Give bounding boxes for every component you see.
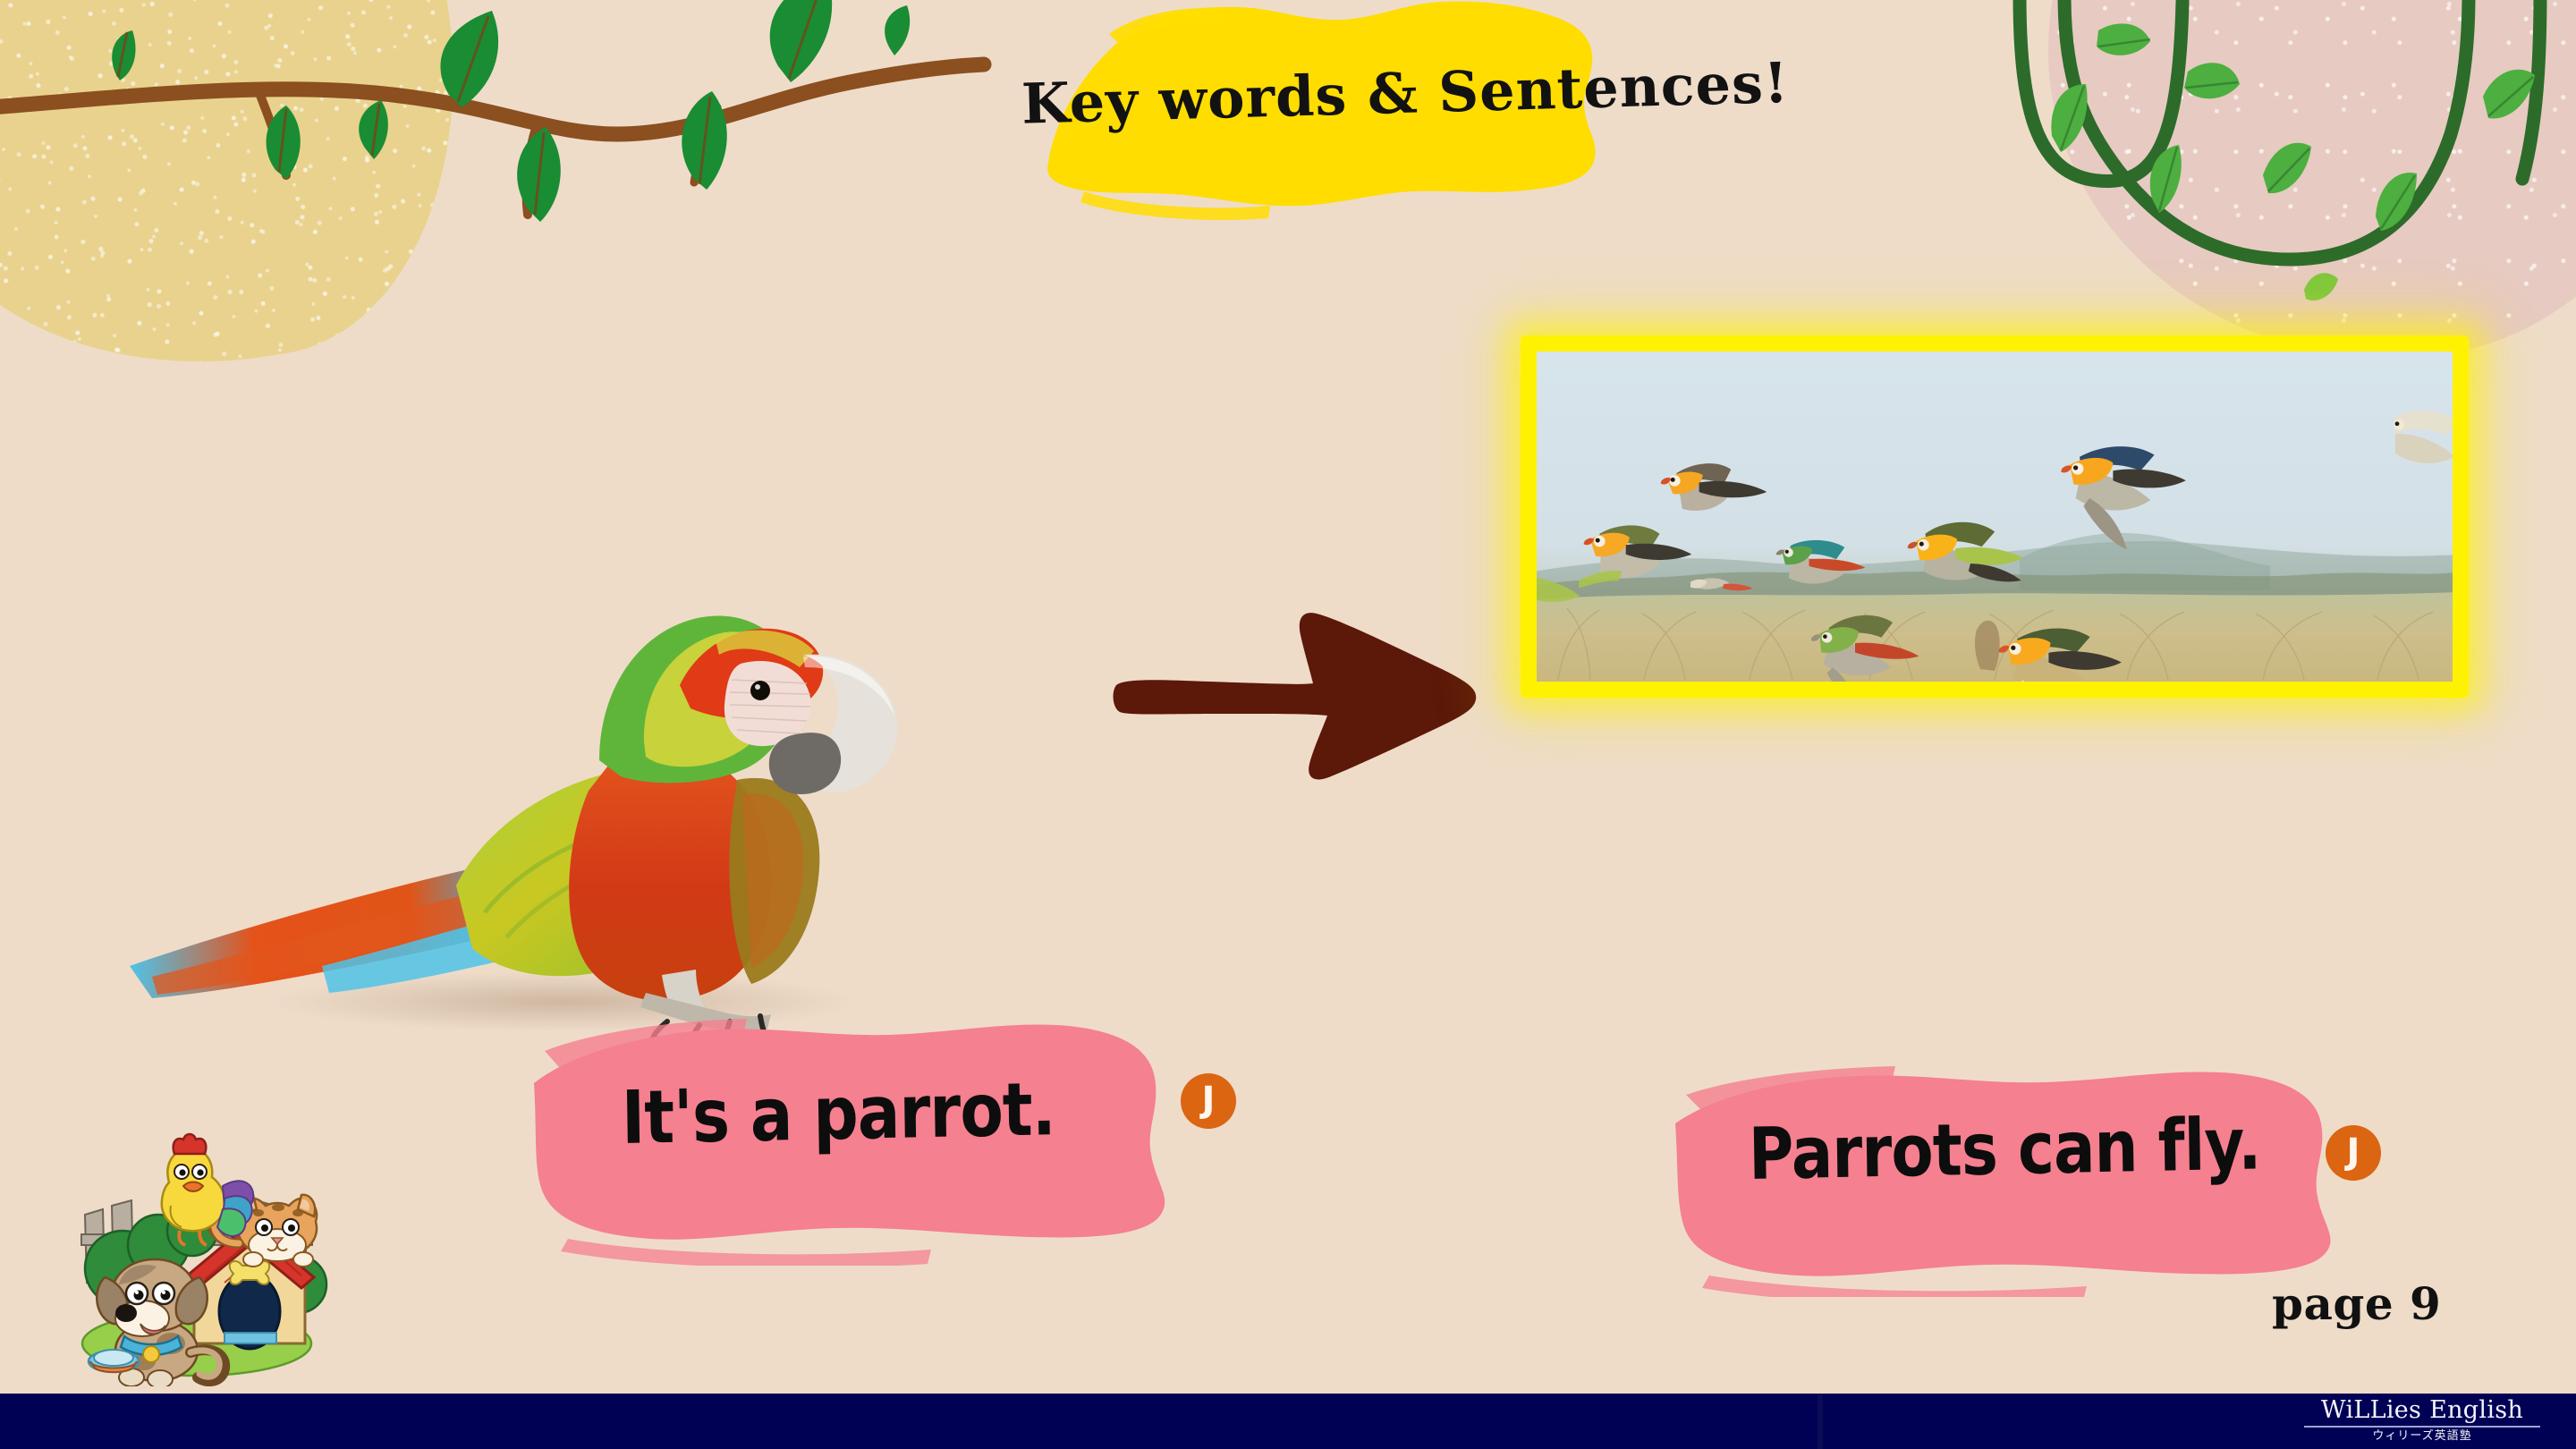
brand-name: WiLLies English — [2288, 1396, 2556, 1424]
pets-clipart-logo — [58, 1109, 335, 1386]
footer-bar: WiLLies English ウィリーズ英語塾 — [0, 1394, 2576, 1449]
flying-parrots-image — [1537, 352, 2453, 682]
hanging-vines-decoration — [2004, 0, 2576, 367]
caption-text-2: Parrots can fly. — [1748, 1102, 2261, 1196]
tree-branch-decoration — [0, 0, 993, 295]
brand-rule — [2304, 1426, 2540, 1428]
caption-block-1: It's a parrot. — [514, 1015, 1230, 1266]
brand-subtitle: ウィリーズ英語塾 — [2288, 1429, 2556, 1444]
audio-badge-1[interactable]: J — [1181, 1073, 1236, 1129]
caption-text-1: It's a parrot. — [621, 1067, 1055, 1161]
slide-canvas: Key words & Sentences! — [0, 0, 2576, 1449]
flying-parrots-photo-frame — [1521, 335, 2469, 698]
slide-title-block: Key words & Sentences! — [1002, 0, 1664, 246]
macaw-parrot-image — [98, 465, 993, 1046]
caption-block-2: Parrots can fly. — [1659, 1064, 2393, 1297]
audio-badge-2[interactable]: J — [2326, 1125, 2381, 1181]
page-number: page 9 — [2272, 1277, 2441, 1330]
right-arrow-icon — [1109, 599, 1485, 805]
brand-logo: WiLLies English ウィリーズ英語塾 — [2288, 1396, 2556, 1444]
footer-divider — [1818, 1394, 1823, 1449]
